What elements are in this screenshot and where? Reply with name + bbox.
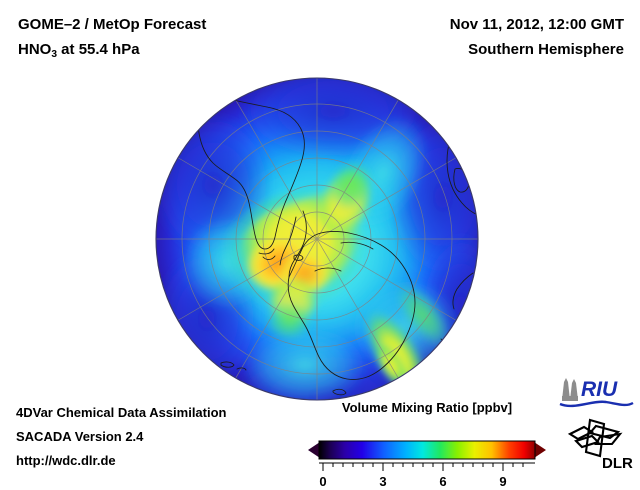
colorbar-tick-label: 3: [379, 474, 386, 489]
footer-line-url[interactable]: http://wdc.dlr.de: [16, 449, 227, 473]
riu-tower-icon: [562, 378, 578, 401]
dlr-logo: DLR: [566, 414, 634, 472]
coast-new-zealand: [441, 339, 451, 359]
riu-wordmark: RIU: [581, 378, 618, 401]
dlr-mark-icon: [570, 420, 620, 456]
colorbar-title: Volume Mixing Ratio [ppbv]: [306, 400, 548, 415]
footer-left-block: 4DVar Chemical Data Assimilation SACADA …: [16, 401, 227, 473]
colorbar-tick-label: 6: [439, 474, 446, 489]
colorbar-tick-marks: [323, 463, 523, 471]
header-right-block: Nov 11, 2012, 12:00 GMT Southern Hemisph…: [450, 12, 624, 62]
colorbar-tick-label: 9: [499, 474, 506, 489]
colorbar-tick-labels: 0369: [319, 474, 506, 489]
species-title: HNO3 at 55.4 hPa: [18, 37, 206, 62]
footer-line-version: SACADA Version 2.4: [16, 425, 227, 449]
globe-disc: [155, 77, 479, 401]
riu-logo: RIU: [558, 374, 634, 408]
riu-wave-icon: [560, 402, 633, 406]
colorbar-ramp: [319, 441, 535, 459]
instrument-title: GOME–2 / MetOp Forecast: [18, 12, 206, 37]
colorbar-tick-label: 0: [319, 474, 326, 489]
globe-map: [155, 77, 479, 401]
region-label: Southern Hemisphere: [450, 37, 624, 62]
grain-overlay: [156, 78, 478, 400]
species-prefix: HNO: [18, 41, 51, 58]
dlr-wordmark: DLR: [602, 455, 633, 472]
species-suffix: at 55.4 hPa: [57, 41, 140, 58]
colorbar-block: Volume Mixing Ratio [ppbv] 0369: [306, 400, 548, 472]
colorbar-left-arrow: [308, 442, 320, 458]
footer-line-method: 4DVar Chemical Data Assimilation: [16, 401, 227, 425]
colorbar-right-arrow: [534, 442, 546, 458]
header-left-block: GOME–2 / MetOp Forecast HNO3 at 55.4 hPa: [18, 12, 206, 62]
datetime-label: Nov 11, 2012, 12:00 GMT: [450, 12, 624, 37]
